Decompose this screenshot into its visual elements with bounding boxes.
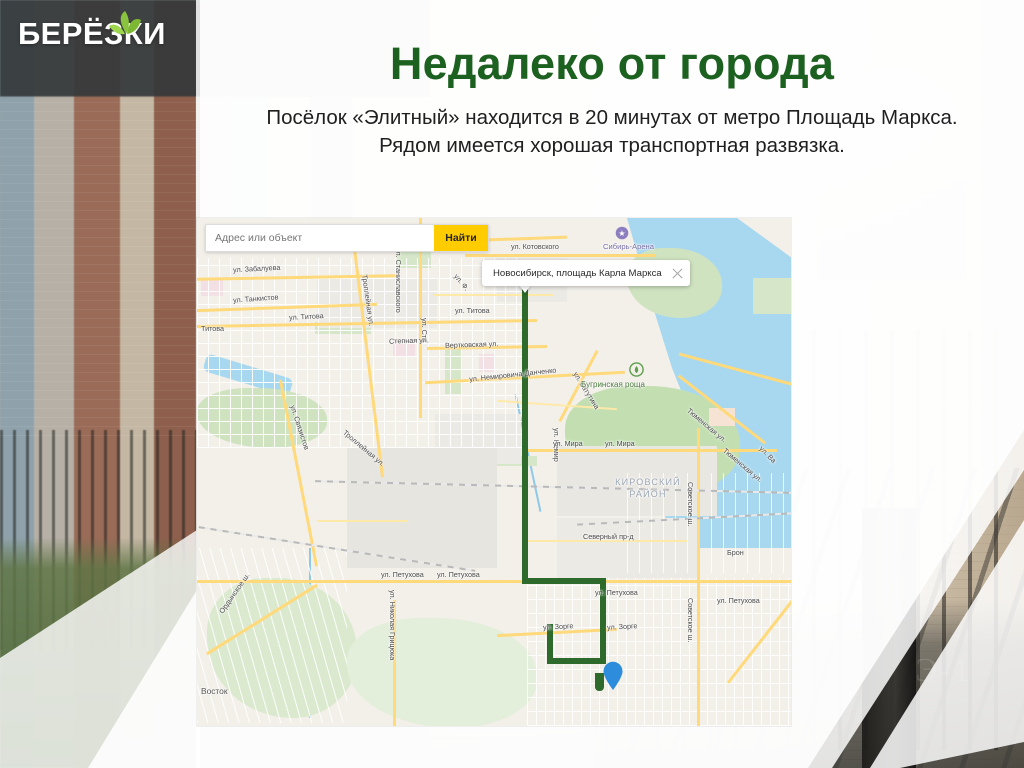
park-label: Бугринская роща (581, 380, 645, 389)
street-label: Брон (727, 548, 744, 557)
street-label: ул. Петухова (717, 596, 760, 605)
search-input[interactable] (206, 226, 434, 250)
map-marker-pin[interactable] (602, 661, 624, 691)
road-mira (527, 449, 777, 452)
district-label: КИРОВСКИЙ РАЙОН (605, 476, 691, 500)
park-icon (629, 362, 644, 377)
route-segment-bottom-horizontal (547, 658, 606, 664)
street-label: ул. Мира (605, 439, 635, 448)
route-segment-vertical-top (522, 292, 528, 582)
page-subtitle: Посёлок «Элитный» находится в 20 минутах… (247, 104, 977, 161)
arena-icon: ★ (615, 226, 629, 240)
logo[interactable]: БЕРЁЗКИ (18, 18, 166, 49)
street-label: Советское ш. (686, 598, 695, 642)
street-label: ул. Петухова (437, 570, 480, 579)
street-label: Северный пр-д (583, 532, 634, 541)
block-industrial (347, 448, 497, 568)
svg-text:★: ★ (618, 229, 625, 238)
road-minor-1 (433, 294, 553, 296)
street-grid-texture-sw (197, 548, 347, 723)
route-segment-horizontal (522, 578, 606, 584)
street-label: ул. Зорге (543, 621, 574, 632)
street-label: ул. Зорге (607, 621, 638, 632)
street-label: Вертковская ул. (445, 339, 499, 350)
watermark: Э-1 (915, 652, 972, 690)
road-petukhova (197, 580, 791, 583)
road-sovetskoye (697, 428, 700, 726)
map-canvas[interactable]: Широкая ул. ул. Котовского ул. Забалуева… (197, 218, 791, 726)
balloon-tail (519, 285, 531, 293)
leaf-icon (103, 8, 151, 36)
map-widget[interactable]: Широкая ул. ул. Котовского ул. Забалуева… (197, 218, 791, 726)
street-label: ул. Котовского (511, 242, 559, 251)
street-label: ул. Титова (455, 306, 490, 315)
map-search-bar[interactable]: Найти (205, 224, 489, 252)
place-label: Восток (201, 686, 228, 696)
map-balloon[interactable]: Новосибирск, площадь Карла Маркса (482, 260, 690, 286)
street-label: ул. Титова (289, 311, 324, 322)
road-kotovskogo (465, 254, 655, 257)
heading-block: Недалеко от города Посёлок «Элитный» нах… (200, 40, 1024, 160)
street-label: ул. Петухова (595, 588, 638, 597)
road-minor-3 (317, 520, 407, 522)
poi-label: Сибирь-Арена (603, 242, 654, 251)
green-block-4 (753, 278, 791, 314)
search-button[interactable]: Найти (434, 225, 488, 251)
close-icon[interactable] (671, 267, 684, 280)
balloon-label: Новосибирск, площадь Карла Маркса (493, 268, 662, 279)
street-label: ул. Станиславского (394, 248, 403, 313)
page-title: Недалеко от города (200, 40, 1024, 88)
street-label: ул. Петухова (381, 570, 424, 579)
street-label: Титова (201, 324, 224, 333)
street-label: ул. Николая Грицюка (388, 590, 397, 660)
street-label: ул. Мира (553, 439, 583, 448)
street-label: Степная ул. (389, 335, 429, 345)
slide: БЕРЁЗКИ Недалеко от города Посёлок «Элит… (0, 0, 1024, 768)
